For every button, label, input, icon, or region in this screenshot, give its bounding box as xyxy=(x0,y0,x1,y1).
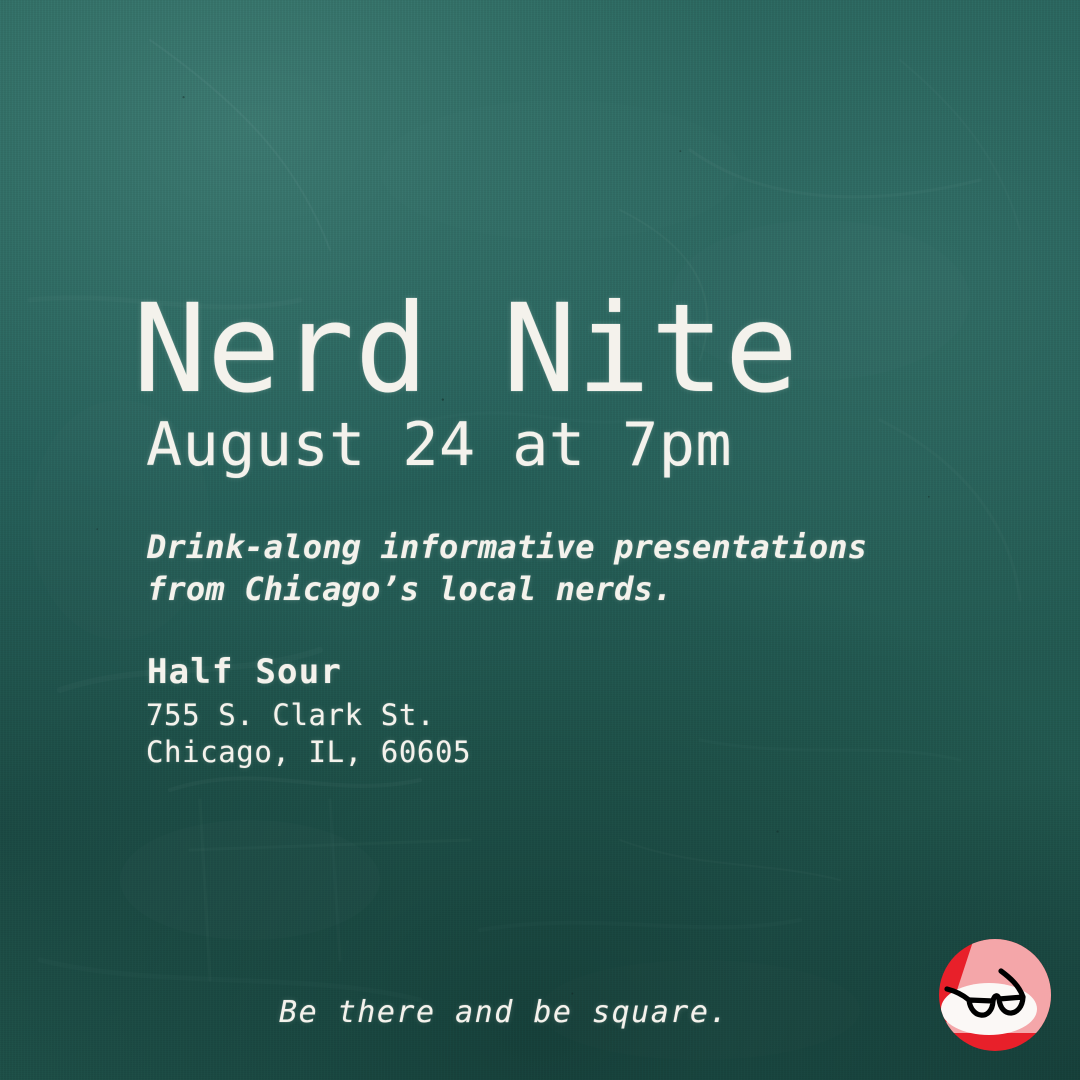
chalkboard-poster: Nerd Nite August 24 at 7pm Drink-along i… xyxy=(0,0,1080,1080)
venue-address: 755 S. Clark St. Chicago, IL, 60605 xyxy=(146,697,471,771)
venue-name: Half Sour xyxy=(147,655,342,689)
event-title: Nerd Nite xyxy=(133,288,799,410)
event-tagline: Be there and be square. xyxy=(0,998,1080,1028)
event-date-time: August 24 at 7pm xyxy=(146,415,732,475)
poster-content: Nerd Nite August 24 at 7pm Drink-along i… xyxy=(0,0,1080,1080)
event-description: Drink-along informative presentations fr… xyxy=(147,526,867,610)
nerd-nite-glasses-logo[interactable] xyxy=(937,937,1053,1053)
